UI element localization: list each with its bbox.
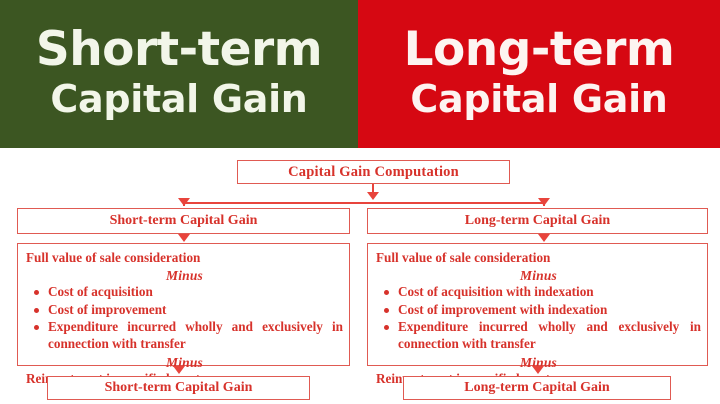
long-term-head-box: Long-term Capital Gain — [367, 208, 708, 234]
list-item-label: Cost of improvement — [48, 302, 166, 317]
arrow-split-left-down-icon — [178, 198, 190, 206]
long-term-body-box: Full value of sale consideration Minus C… — [367, 243, 708, 366]
flow-title-label: Capital Gain Computation — [288, 164, 459, 181]
long-term-foot-box: Long-term Capital Gain — [403, 376, 671, 400]
long-term-deduction-list: Cost of acquisition with indexation Cost… — [376, 284, 701, 353]
banner-long-term-line2: Capital Gain — [410, 78, 667, 122]
short-term-foot-label: Short-term Capital Gain — [105, 380, 253, 396]
list-item-label: Expenditure incurred wholly and exclusiv… — [398, 319, 701, 351]
list-item: Expenditure incurred wholly and exclusiv… — [26, 319, 343, 353]
list-item: Cost of improvement — [26, 302, 343, 319]
banner-half-long-term: Long-term Capital Gain — [358, 0, 720, 148]
arrow-split-right-down-icon — [538, 198, 550, 206]
banner-short-term-line1: Short-term — [36, 26, 322, 74]
short-term-body-box: Full value of sale consideration Minus C… — [17, 243, 350, 366]
short-term-head-label: Short-term Capital Gain — [110, 213, 258, 229]
flow-title-box: Capital Gain Computation — [237, 160, 510, 184]
short-term-minus-1: Minus — [26, 267, 343, 284]
list-item-label: Expenditure incurred wholly and exclusiv… — [48, 319, 343, 351]
arrow-short-foot-down-icon — [173, 366, 185, 374]
arrow-long-head-down-icon — [538, 234, 550, 242]
bullet-dot-icon — [384, 290, 389, 295]
header-banner: Short-term Capital Gain Long-term Capita… — [0, 0, 720, 148]
page-root: Short-term Capital Gain Long-term Capita… — [0, 0, 720, 404]
arrow-long-foot-down-icon — [532, 366, 544, 374]
arrow-title-down-icon — [367, 192, 379, 200]
short-term-head-box: Short-term Capital Gain — [17, 208, 350, 234]
banner-short-term-line2: Capital Gain — [50, 78, 307, 122]
connector-split-horizontal — [183, 202, 544, 204]
list-item-label: Cost of improvement with indexation — [398, 302, 607, 317]
bullet-dot-icon — [384, 325, 389, 330]
short-term-deduction-list: Cost of acquisition Cost of improvement … — [26, 284, 343, 353]
banner-half-short-term: Short-term Capital Gain — [0, 0, 358, 148]
list-item: Cost of acquisition — [26, 284, 343, 301]
bullet-dot-icon — [34, 290, 39, 295]
banner-long-term-line1: Long-term — [404, 26, 675, 74]
long-term-head-label: Long-term Capital Gain — [465, 213, 610, 229]
bullet-dot-icon — [34, 308, 39, 313]
long-term-foot-label: Long-term Capital Gain — [464, 380, 609, 396]
long-term-minus-1: Minus — [376, 267, 701, 284]
list-item: Cost of improvement with indexation — [376, 302, 701, 319]
short-term-foot-box: Short-term Capital Gain — [47, 376, 310, 400]
short-term-full-value: Full value of sale consideration — [26, 250, 343, 267]
list-item-label: Cost of acquisition with indexation — [398, 284, 594, 299]
bullet-dot-icon — [34, 325, 39, 330]
list-item: Expenditure incurred wholly and exclusiv… — [376, 319, 701, 353]
list-item-label: Cost of acquisition — [48, 284, 153, 299]
arrow-short-head-down-icon — [178, 234, 190, 242]
long-term-full-value: Full value of sale consideration — [376, 250, 701, 267]
capital-gain-flow-diagram: Capital Gain Computation Short-term Capi… — [0, 148, 720, 404]
bullet-dot-icon — [384, 308, 389, 313]
list-item: Cost of acquisition with indexation — [376, 284, 701, 301]
